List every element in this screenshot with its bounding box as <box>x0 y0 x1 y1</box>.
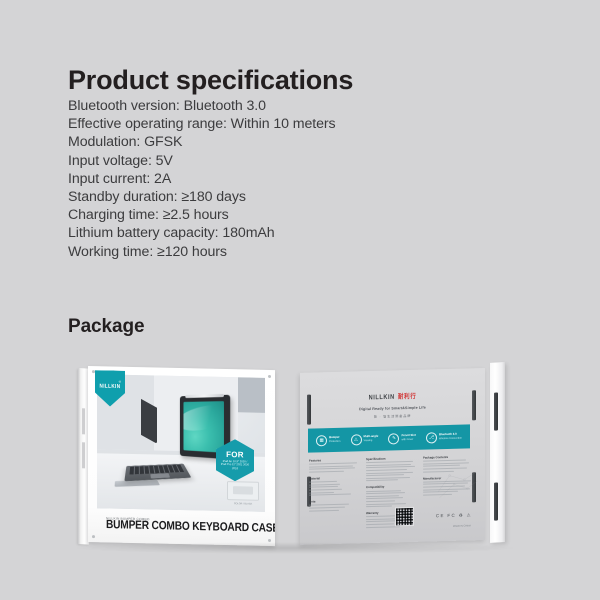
trademark-icon: ® <box>119 380 121 384</box>
box-front-product-name: BUMPER COMBO KEYBOARD CASE <box>106 518 275 535</box>
spec-column-lines <box>309 462 359 472</box>
ground-shadow <box>70 542 520 554</box>
feature-item: ▦ Bumper Protection <box>316 434 340 446</box>
tablet-screen <box>183 401 223 453</box>
specification-list: Bluetooth version: Bluetooth 3.0 Effecti… <box>68 97 488 261</box>
feature-bar: ▦ Bumper Protection △ Multi-angle Viewin… <box>308 424 470 452</box>
spine-strip <box>494 482 498 520</box>
spec-line: Charging time: ≥2.5 hours <box>68 206 488 224</box>
page-root: Product specifications Bluetooth version… <box>0 0 600 600</box>
feature-sublabel: Wireless Connection <box>439 437 462 441</box>
sku-window-caption: COLOR / BLACK <box>228 502 258 506</box>
spec-line: Effective operating range: Within 10 met… <box>68 115 488 133</box>
box-back-face: NILLKIN耐利行 Digital Ready for Smart&Simpl… <box>300 368 485 545</box>
product-box-front: FOR iPad Air 10.9″ 2020 / iPad Pro 11″ 2… <box>78 366 275 544</box>
box-back-spine <box>490 362 505 543</box>
box-back-logo-cn: 耐利行 <box>398 393 417 401</box>
box-back-logo: NILLKIN耐利行 <box>300 389 485 403</box>
feature-item: △ Multi-angle Viewing <box>351 433 379 445</box>
for-badge-label: FOR <box>226 450 244 459</box>
spec-line: Bluetooth version: Bluetooth 3.0 <box>68 97 488 115</box>
box-back-logo-text: NILLKIN <box>369 394 395 402</box>
spec-column-lines <box>309 480 359 495</box>
feature-item: ✎ Pencil Slot with Cover <box>388 432 415 444</box>
spec-line: Standby duration: ≥180 days <box>68 188 488 206</box>
spec-line: Input voltage: 5V <box>68 152 488 170</box>
stylus-icon <box>185 394 224 398</box>
corner-dot <box>92 370 95 373</box>
feature-sublabel: with Cover <box>401 438 415 442</box>
for-badge-compat: iPad Air 10.9″ 2020 / iPad Pro 11″ 2021 … <box>220 459 250 470</box>
feature-sublabel: Viewing <box>364 439 379 443</box>
spec-line: Modulation: GFSK <box>68 133 488 151</box>
feature-item: ⎇ Bluetooth 3.0 Wireless Connection <box>426 431 462 443</box>
keyboard-trackpad <box>149 473 169 478</box>
spec-column-lines <box>309 504 359 511</box>
bluetooth-icon: ⎇ <box>426 432 437 443</box>
product-box-back: NILLKIN耐利行 Digital Ready for Smart&Simpl… <box>300 362 505 542</box>
spec-line: Lithium battery capacity: 180mAh <box>68 224 488 242</box>
spec-column: Features Material Note <box>309 457 359 533</box>
spec-line: Input current: 2A <box>68 170 488 188</box>
spine-strip <box>494 392 498 430</box>
spine-notch <box>82 442 85 468</box>
stand-icon: △ <box>351 434 362 445</box>
package-photo: FOR iPad Air 10.9″ 2020 / iPad Pro 11″ 2… <box>0 350 600 600</box>
package-title: Package <box>68 316 144 338</box>
keyboard-icon: ▦ <box>316 435 327 446</box>
pen-icon: ✎ <box>388 433 399 444</box>
certification-marks: CE FC ♻ ⚠ <box>436 512 472 519</box>
spec-line: Working time: ≥120 hours <box>68 243 488 261</box>
brand-name: NILLKIN <box>100 382 121 389</box>
watermark-graphic <box>435 468 479 503</box>
qr-code <box>395 507 414 526</box>
page-title: Product specifications <box>68 65 353 96</box>
feature-sublabel: Protection <box>329 440 340 444</box>
corner-dot <box>92 535 95 538</box>
spine-notch <box>82 408 85 434</box>
spec-column-lines <box>366 461 416 481</box>
sku-window: COLOR / BLACK <box>227 481 259 501</box>
sku-window-inner <box>233 486 253 494</box>
box-back-tagline-cn: 简 · 智生活预备品牌 <box>300 411 485 421</box>
corner-dot <box>268 375 271 378</box>
box-front-face: FOR iPad Air 10.9″ 2020 / iPad Pro 11″ 2… <box>88 366 275 546</box>
photo-backdrop-right <box>238 377 265 412</box>
made-in-label: MADE IN CHINA <box>453 524 471 527</box>
spec-column-lines <box>366 489 416 507</box>
